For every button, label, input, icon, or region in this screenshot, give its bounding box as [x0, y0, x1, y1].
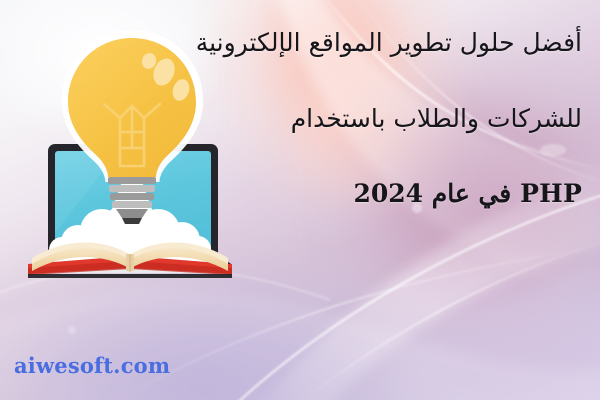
headline-block: أفضل حلول تطوير المواقع الإلكترونية للشر…: [162, 28, 582, 209]
watermark-aiwesoft: aiwesoft.com: [14, 353, 170, 378]
headline-line-3: PHP في عام 2024: [162, 179, 582, 209]
headline-line-1: أفضل حلول تطوير المواقع الإلكترونية: [162, 28, 582, 58]
headline-line-2: للشركات والطلاب باستخدام: [162, 104, 582, 134]
banner-canvas: أفضل حلول تطوير المواقع الإلكترونية للشر…: [0, 0, 600, 400]
